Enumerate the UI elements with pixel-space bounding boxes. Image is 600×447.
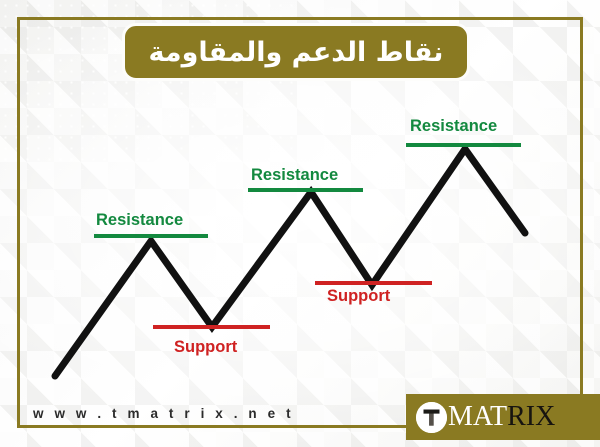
support-label: Support [327,288,390,305]
logo-wordmark: MATRIX [448,403,555,431]
t-circle-icon [416,402,447,433]
infographic-canvas: نقاط الدعم والمقاومة ResistanceSupportRe… [0,0,600,447]
logo-word-mat: MAT [448,401,507,432]
website-url: w w w . t m a t r i x . n e t [33,406,294,421]
resistance-label: Resistance [251,167,338,184]
support-label: Support [174,339,237,356]
logo-word-rix: RIX [507,401,555,432]
tmatrix-logo: MATRIX [406,394,600,440]
resistance-label: Resistance [410,118,497,135]
resistance-label: Resistance [96,212,183,229]
price-chart [0,0,600,447]
